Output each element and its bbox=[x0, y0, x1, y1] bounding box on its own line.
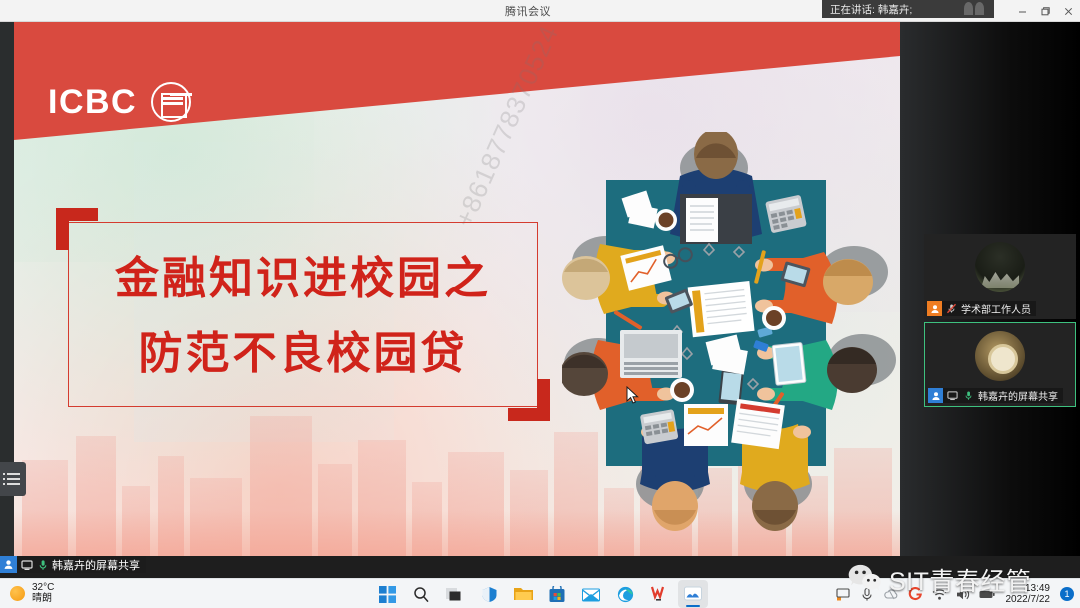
participant-badge-icon bbox=[927, 301, 942, 316]
tencent-meeting-button[interactable] bbox=[678, 580, 708, 608]
audio-wave-icon bbox=[964, 2, 984, 15]
avatar bbox=[975, 242, 1025, 292]
edge-button[interactable] bbox=[610, 580, 640, 608]
microphone-active-icon bbox=[36, 558, 49, 571]
close-icon[interactable] bbox=[1057, 0, 1080, 22]
weather-widget[interactable]: 32°C 晴朗 bbox=[10, 582, 54, 604]
corner-bracket-bottomright bbox=[508, 379, 550, 421]
wechat-watermark: SIT青春经管 bbox=[848, 562, 1031, 598]
icbc-logo: ICBC bbox=[48, 82, 191, 122]
wps-office-button[interactable] bbox=[644, 580, 674, 608]
list-icon bbox=[7, 473, 20, 485]
participant-tile[interactable]: 学术部工作人员 bbox=[924, 234, 1076, 319]
wechat-label: SIT青春经管 bbox=[889, 562, 1031, 598]
team-meeting-illustration bbox=[562, 132, 900, 532]
participant-list-toggle[interactable] bbox=[0, 462, 26, 496]
icbc-wordmark: ICBC bbox=[48, 85, 137, 119]
notification-badge[interactable]: 1 bbox=[1060, 587, 1074, 601]
search-button[interactable] bbox=[406, 580, 436, 608]
participant-tile[interactable]: 韩嘉卉的屏幕共享 bbox=[924, 322, 1076, 407]
screen-share-label: 韩嘉卉的屏幕共享 bbox=[52, 557, 140, 573]
slide-title-line1: 金融知识进校园之 bbox=[68, 242, 538, 306]
file-explorer-button[interactable] bbox=[508, 580, 538, 608]
participant-column: 学术部工作人员 bbox=[900, 22, 1080, 556]
participant-badge-icon bbox=[928, 388, 943, 403]
weather-temperature: 32°C bbox=[32, 582, 54, 593]
restore-icon[interactable] bbox=[1034, 0, 1057, 22]
screen-share-icon bbox=[20, 558, 33, 571]
window-title: 腾讯会议 bbox=[505, 3, 551, 19]
tencent-meeting-window: 腾讯会议 正在讲话: 韩嘉卉; bbox=[0, 0, 1080, 608]
task-view-button[interactable] bbox=[440, 580, 470, 608]
shared-screen-slide[interactable]: ICBC +8618778370524 2022年 金融知识进校园之 防范不良校… bbox=[14, 22, 900, 556]
meeting-body: ICBC +8618778370524 2022年 金融知识进校园之 防范不良校… bbox=[0, 22, 1080, 578]
speaking-indicator: 正在讲话: 韩嘉卉; bbox=[822, 0, 994, 18]
screen-share-bar[interactable]: 韩嘉卉的屏幕共享 bbox=[0, 556, 146, 573]
minimize-icon[interactable] bbox=[1011, 0, 1034, 22]
slide-title-line2: 防范不良校园贷 bbox=[68, 317, 538, 381]
start-button[interactable] bbox=[372, 580, 402, 608]
taskbar-apps bbox=[372, 579, 708, 608]
microsoft-store-button[interactable] bbox=[542, 580, 572, 608]
weather-condition: 晴朗 bbox=[32, 593, 54, 604]
mail-button[interactable] bbox=[576, 580, 606, 608]
icbc-emblem-icon bbox=[151, 82, 191, 122]
microphone-active-icon bbox=[962, 389, 975, 402]
sun-icon bbox=[10, 586, 25, 601]
screen-share-icon bbox=[946, 389, 959, 402]
participant-badge-icon bbox=[0, 556, 17, 573]
participant-name: 韩嘉卉的屏幕共享 bbox=[978, 388, 1058, 403]
participant-name: 学术部工作人员 bbox=[961, 301, 1031, 316]
participant-label: 学术部工作人员 bbox=[927, 301, 1036, 316]
participant-label: 韩嘉卉的屏幕共享 bbox=[928, 388, 1063, 403]
speaking-indicator-label: 正在讲话: 韩嘉卉; bbox=[830, 2, 912, 17]
window-controls bbox=[1011, 0, 1080, 22]
wechat-icon bbox=[848, 564, 882, 597]
security-button[interactable] bbox=[474, 580, 504, 608]
slide-title-block: 金融知识进校园之 防范不良校园贷 bbox=[68, 222, 538, 407]
avatar bbox=[975, 331, 1025, 381]
microphone-muted-icon bbox=[945, 302, 958, 315]
mouse-cursor bbox=[626, 386, 639, 410]
